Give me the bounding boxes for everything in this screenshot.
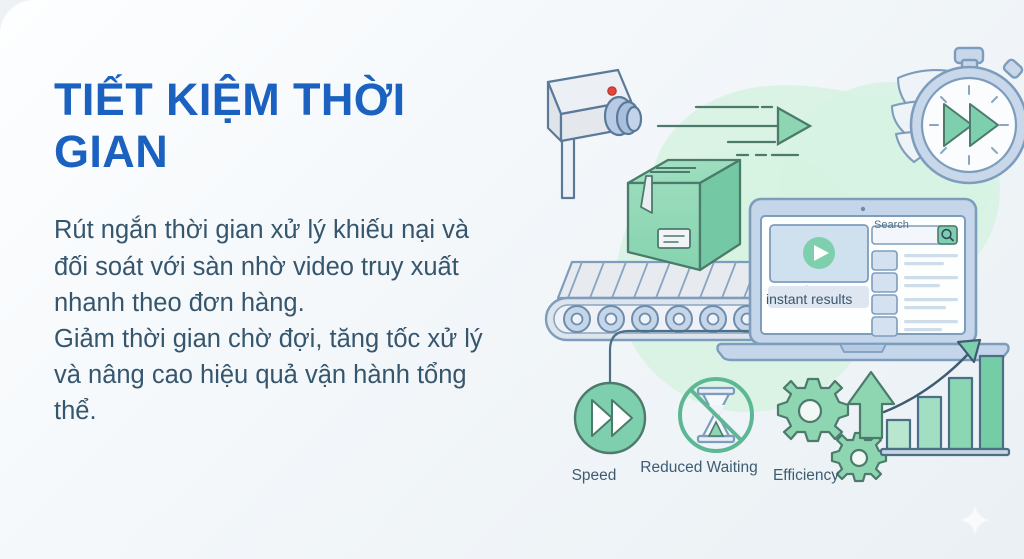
page-title: TIẾT KIỆM THỜI GIAN bbox=[54, 74, 444, 178]
gears-up-arrow-icon bbox=[778, 372, 894, 481]
no-hourglass-icon bbox=[680, 379, 752, 451]
promo-card: TIẾT KIỆM THỜI GIAN Rút ngắn thời gian x… bbox=[0, 0, 1024, 559]
search-input-placeholder[interactable]: Search bbox=[874, 219, 909, 231]
instant-results-caption: instant results bbox=[766, 291, 852, 307]
fast-forward-icon bbox=[575, 383, 645, 453]
laptop-device bbox=[718, 199, 1009, 360]
package-box-icon bbox=[628, 160, 740, 270]
text-column: TIẾT KIỆM THỜI GIAN Rút ngắn thời gian x… bbox=[54, 74, 504, 430]
body-paragraph: Rút ngắn thời gian xử lý khiếu nại và đố… bbox=[54, 212, 484, 429]
sparkle-icon bbox=[958, 503, 992, 537]
benefit-label-efficiency: Efficiency bbox=[746, 466, 866, 486]
benefit-label-waiting: Reduced Waiting bbox=[639, 458, 759, 478]
security-camera-icon bbox=[548, 70, 641, 198]
benefit-label-speed: Speed bbox=[534, 466, 654, 486]
